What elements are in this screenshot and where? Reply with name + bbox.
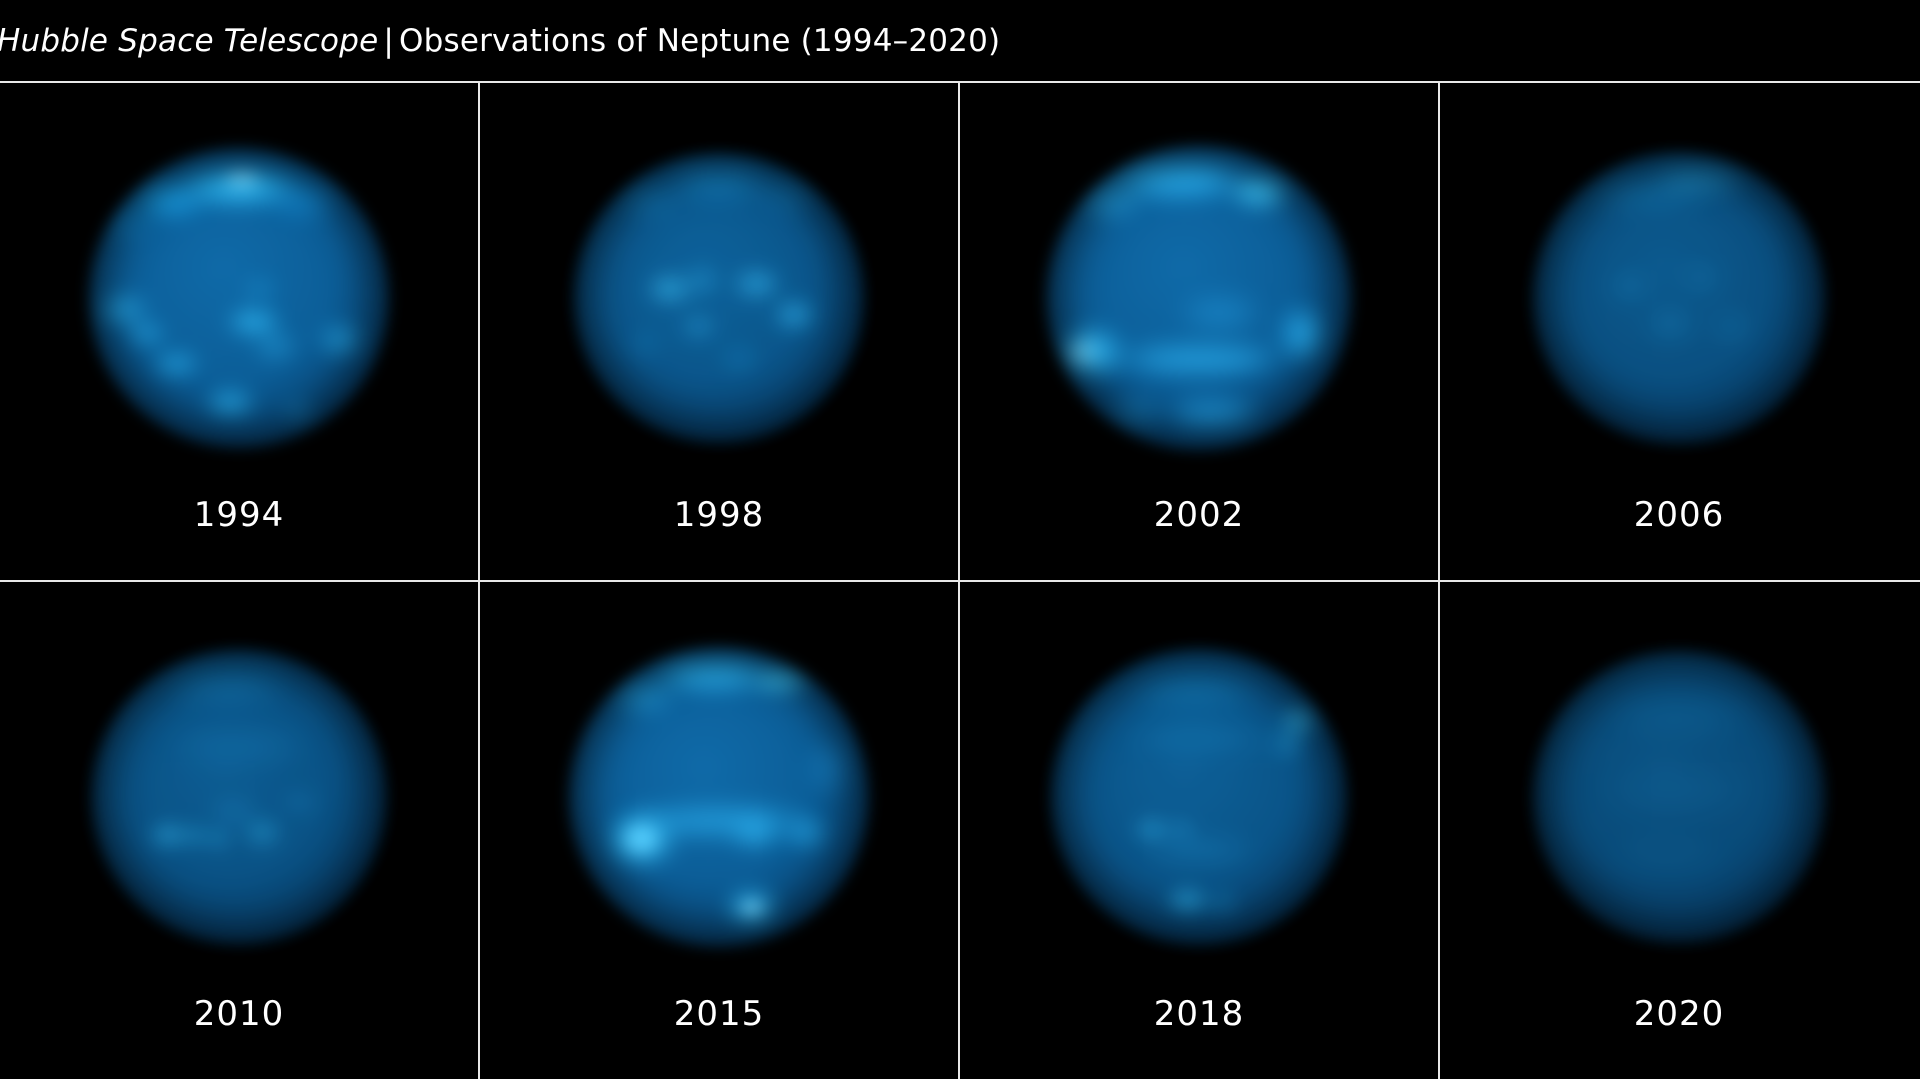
planet-disc xyxy=(1533,152,1825,444)
panel-neptune-2010[interactable]: 2010 xyxy=(0,582,478,1079)
planet-disc xyxy=(92,650,387,945)
planet-limb-darkening xyxy=(92,650,387,945)
planet-disc xyxy=(1051,649,1347,945)
year-label-2018: 2018 xyxy=(960,994,1438,1034)
panel-neptune-2006[interactable]: 2006 xyxy=(1440,83,1918,580)
subject-text: Observations of Neptune (1994–2020) xyxy=(399,23,1000,59)
planet-disc xyxy=(1533,651,1825,943)
neptune-image-2002 xyxy=(960,83,1438,513)
neptune-image-2015 xyxy=(480,582,958,1012)
mission-name: Hubble Space Telescope xyxy=(0,23,378,59)
year-label-2015: 2015 xyxy=(480,994,958,1034)
year-label-2002: 2002 xyxy=(960,495,1438,535)
figure-header: Hubble Space Telescope|Observations of N… xyxy=(0,0,1920,81)
divider-column-2 xyxy=(958,83,960,1079)
page-title: Hubble Space Telescope|Observations of N… xyxy=(0,23,1000,59)
planet-disc xyxy=(1047,146,1352,451)
year-label-1994: 1994 xyxy=(0,495,478,535)
divider-column-1 xyxy=(478,83,480,1079)
planet-disc xyxy=(574,153,864,443)
neptune-image-1998 xyxy=(480,83,958,513)
divider-column-3 xyxy=(1438,83,1440,1079)
title-separator: | xyxy=(378,23,399,59)
year-label-2010: 2010 xyxy=(0,994,478,1034)
planet-limb-darkening xyxy=(569,647,869,947)
planet-limb-darkening xyxy=(1047,146,1352,451)
neptune-image-2018 xyxy=(960,582,1438,1012)
panel-neptune-2002[interactable]: 2002 xyxy=(960,83,1438,580)
planet-limb-darkening xyxy=(1533,651,1825,943)
figure-root: Hubble Space Telescope|Observations of N… xyxy=(0,0,1920,1079)
panel-neptune-1998[interactable]: 1998 xyxy=(480,83,958,580)
panel-neptune-1994[interactable]: 1994 xyxy=(0,83,478,580)
panel-neptune-2015[interactable]: 2015 xyxy=(480,582,958,1079)
planet-disc xyxy=(569,647,869,947)
neptune-image-2006 xyxy=(1440,83,1918,513)
planet-limb-darkening xyxy=(89,148,389,448)
neptune-image-1994 xyxy=(0,83,478,513)
neptune-image-2020 xyxy=(1440,582,1918,1012)
neptune-image-2010 xyxy=(0,582,478,1012)
planet-disc xyxy=(89,148,389,448)
year-label-1998: 1998 xyxy=(480,495,958,535)
panel-neptune-2020[interactable]: 2020 xyxy=(1440,582,1918,1079)
planet-limb-darkening xyxy=(1051,649,1347,945)
planet-limb-darkening xyxy=(574,153,864,443)
panel-neptune-2018[interactable]: 2018 xyxy=(960,582,1438,1079)
planet-limb-darkening xyxy=(1533,152,1825,444)
year-label-2006: 2006 xyxy=(1440,495,1918,535)
neptune-panel-grid: 19941998200220062010201520182020 xyxy=(0,83,1920,1079)
year-label-2020: 2020 xyxy=(1440,994,1918,1034)
